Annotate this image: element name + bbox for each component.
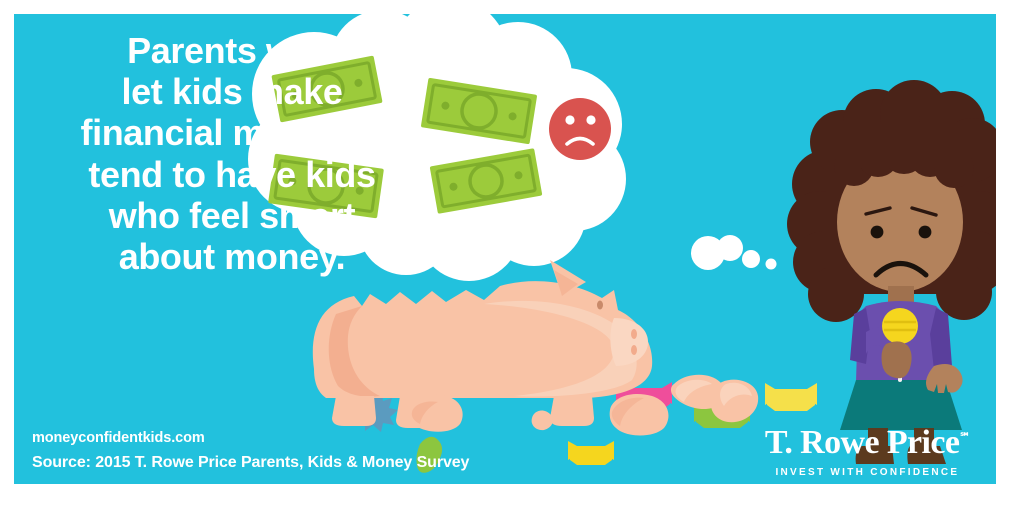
headline-line-5: who feel smart xyxy=(22,195,442,236)
headline-line-3: financial mistakes xyxy=(22,112,442,153)
girl-eyebrow-right xyxy=(912,208,936,215)
logo-wordmark-text: T. Rowe Price xyxy=(765,424,960,461)
logo-tagline: INVEST WITH CONFIDENCE xyxy=(765,467,970,478)
logo-trademark-icon: ℠ xyxy=(959,432,970,444)
candy-gold xyxy=(568,441,614,465)
candy-pink xyxy=(616,382,672,410)
girl-lollipop xyxy=(882,308,918,382)
headline-line-1: Parents who xyxy=(22,30,442,71)
thought-bubble-trail xyxy=(691,235,777,270)
candy-yellow xyxy=(765,383,817,411)
girl-eyebrow-left xyxy=(866,208,890,214)
logo-wordmark: T. Rowe Price℠ xyxy=(765,426,970,460)
girl-hand-right xyxy=(926,364,963,393)
headline-line-6: about money. xyxy=(22,236,442,277)
sad-face-icon xyxy=(549,98,611,160)
broken-piggy-bank xyxy=(313,260,758,436)
girl-hair-fringe xyxy=(834,122,974,188)
page-title: Parents who let kids make financial mist… xyxy=(22,30,442,277)
girl-hair-back xyxy=(787,80,996,322)
infographic-root: Parents who let kids make financial mist… xyxy=(0,0,1024,512)
girl-eye-left xyxy=(871,226,884,239)
headline-line-4: tend to have kids xyxy=(22,154,442,195)
banknote-bottom-right xyxy=(430,148,543,214)
girl-face xyxy=(837,152,963,292)
brand-logo[interactable]: T. Rowe Price℠ INVEST WITH CONFIDENCE xyxy=(765,426,970,478)
candy-lime xyxy=(694,400,750,428)
girl-mouth-frown xyxy=(876,264,926,276)
girl-skirt xyxy=(840,380,962,430)
girl-shirt xyxy=(856,301,946,382)
source-attribution: Source: 2015 T. Rowe Price Parents, Kids… xyxy=(32,454,469,472)
candy-blue xyxy=(353,392,398,432)
teal-canvas: Parents who let kids make financial mist… xyxy=(14,14,996,484)
sad-girl-character xyxy=(787,80,996,464)
girl-eye-right xyxy=(919,226,932,239)
website-url[interactable]: moneyconfidentkids.com xyxy=(32,430,205,446)
headline-line-2: let kids make xyxy=(22,71,442,112)
girl-hand-left xyxy=(882,341,912,378)
